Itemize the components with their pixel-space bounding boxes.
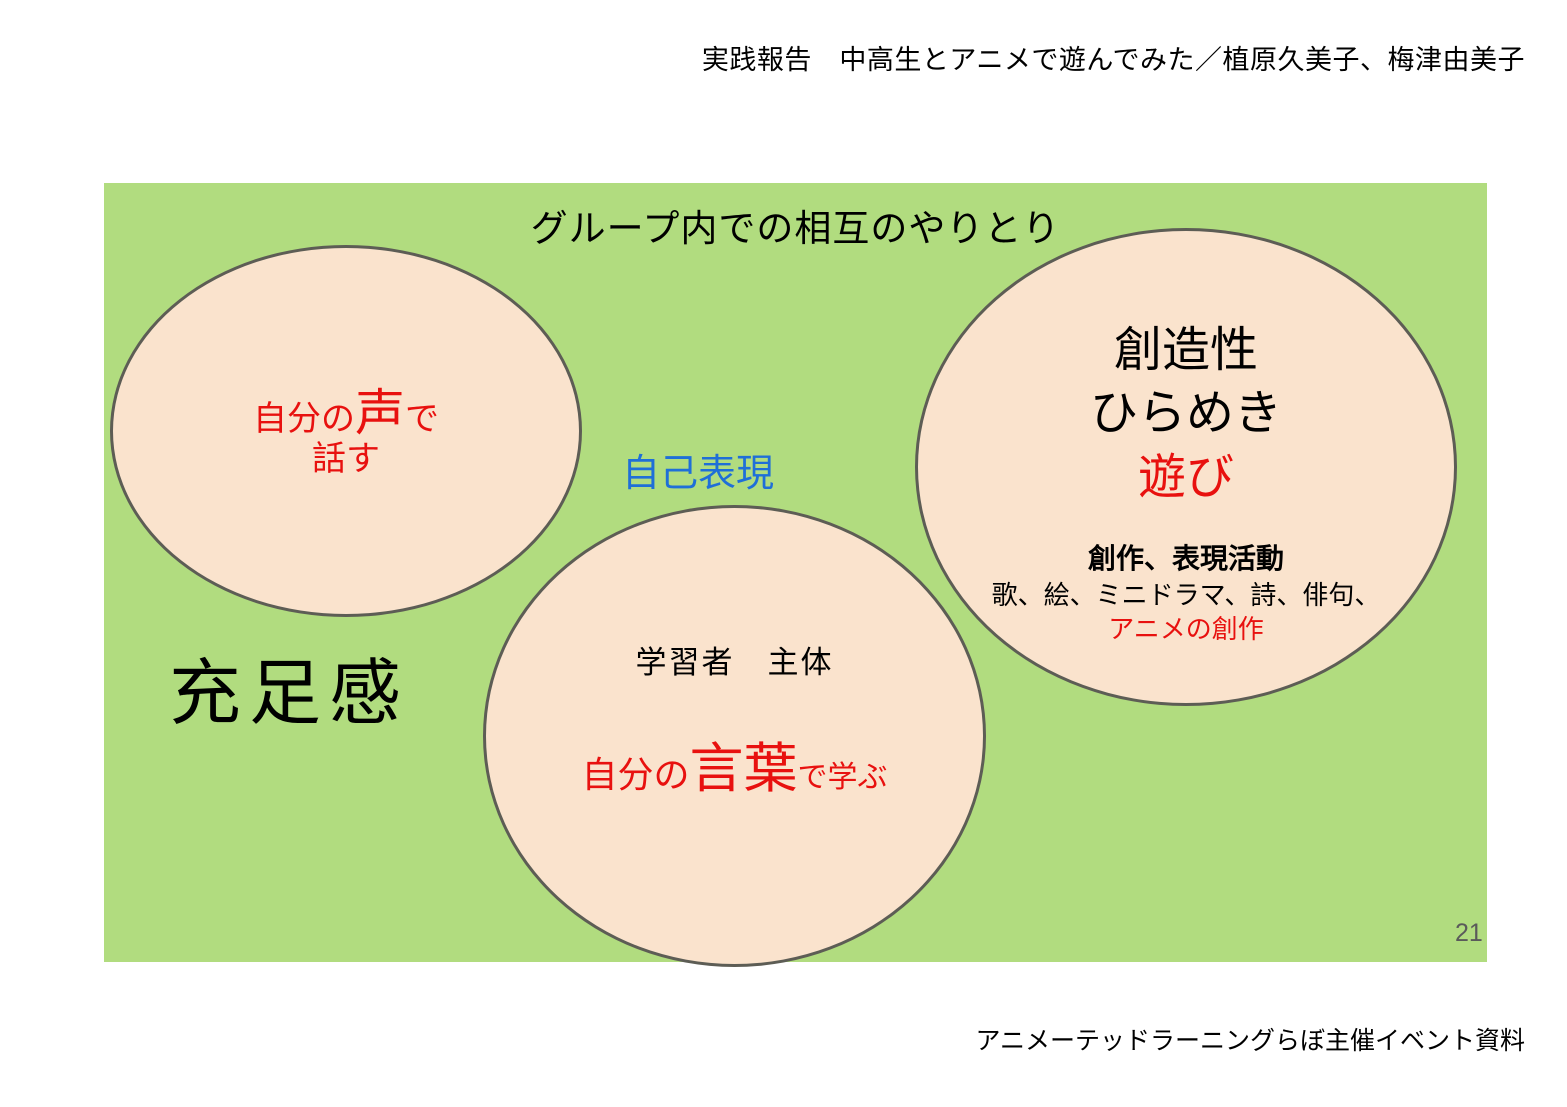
ellipse-creativity-head-line-3: 遊び: [918, 446, 1454, 509]
ellipse-voice-line-2: 話す: [113, 438, 579, 481]
ellipse-learner-line2-big: 言葉: [690, 739, 798, 799]
ellipse-voice: 自分の声で 話す: [110, 245, 582, 617]
ellipse-creativity: 創造性 ひらめき 遊び 創作、表現活動 歌、絵、ミニドラマ、詩、俳句、 アニメの…: [915, 228, 1457, 706]
ellipse-creativity-heading: 創造性 ひらめき 遊び: [918, 319, 1454, 509]
green-content-panel: グループ内での相互のやりとり 自分の声で 話す 創造性 ひらめき 遊び 創作、表…: [104, 183, 1487, 962]
label-fulfillment: 充足感: [169, 634, 409, 739]
ellipse-voice-line1-big: 声: [355, 385, 405, 441]
ellipse-learner-line-2: 自分の言葉で学ぶ: [486, 736, 983, 804]
ellipse-voice-line-1: 自分の声で: [113, 382, 579, 445]
ellipse-creativity-subtext: 創作、表現活動 歌、絵、ミニドラマ、詩、俳句、 アニメの創作: [918, 541, 1454, 647]
ellipse-learner-line2-pre: 自分の: [581, 754, 689, 795]
ellipse-learner: 学習者 主体 自分の言葉で学ぶ: [483, 505, 986, 967]
ellipse-creativity-head-line-2: ひらめき: [918, 382, 1454, 445]
slide-footer-text: アニメーテッドラーニングらぼ主催イベント資料: [975, 1021, 1525, 1057]
ellipse-voice-line1-pre: 自分の: [253, 400, 355, 438]
ellipse-creativity-head-line-1: 創造性: [918, 319, 1454, 382]
ellipse-voice-line1-post: で: [405, 400, 439, 438]
label-self-expression: 自己表現: [622, 442, 774, 497]
page-number: 21: [1455, 919, 1483, 948]
ellipse-creativity-sub-line-1: 創作、表現活動: [918, 541, 1454, 578]
ellipse-learner-line2-post: で学ぶ: [798, 761, 888, 794]
ellipse-creativity-sub-line-2: 歌、絵、ミニドラマ、詩、俳句、: [918, 578, 1454, 612]
ellipse-creativity-sub-line-3: アニメの創作: [918, 612, 1454, 646]
ellipse-learner-line-1: 学習者 主体: [486, 644, 983, 683]
slide-header-title: 実践報告 中高生とアニメで遊んでみた／植原久美子、梅津由美子: [702, 38, 1525, 77]
